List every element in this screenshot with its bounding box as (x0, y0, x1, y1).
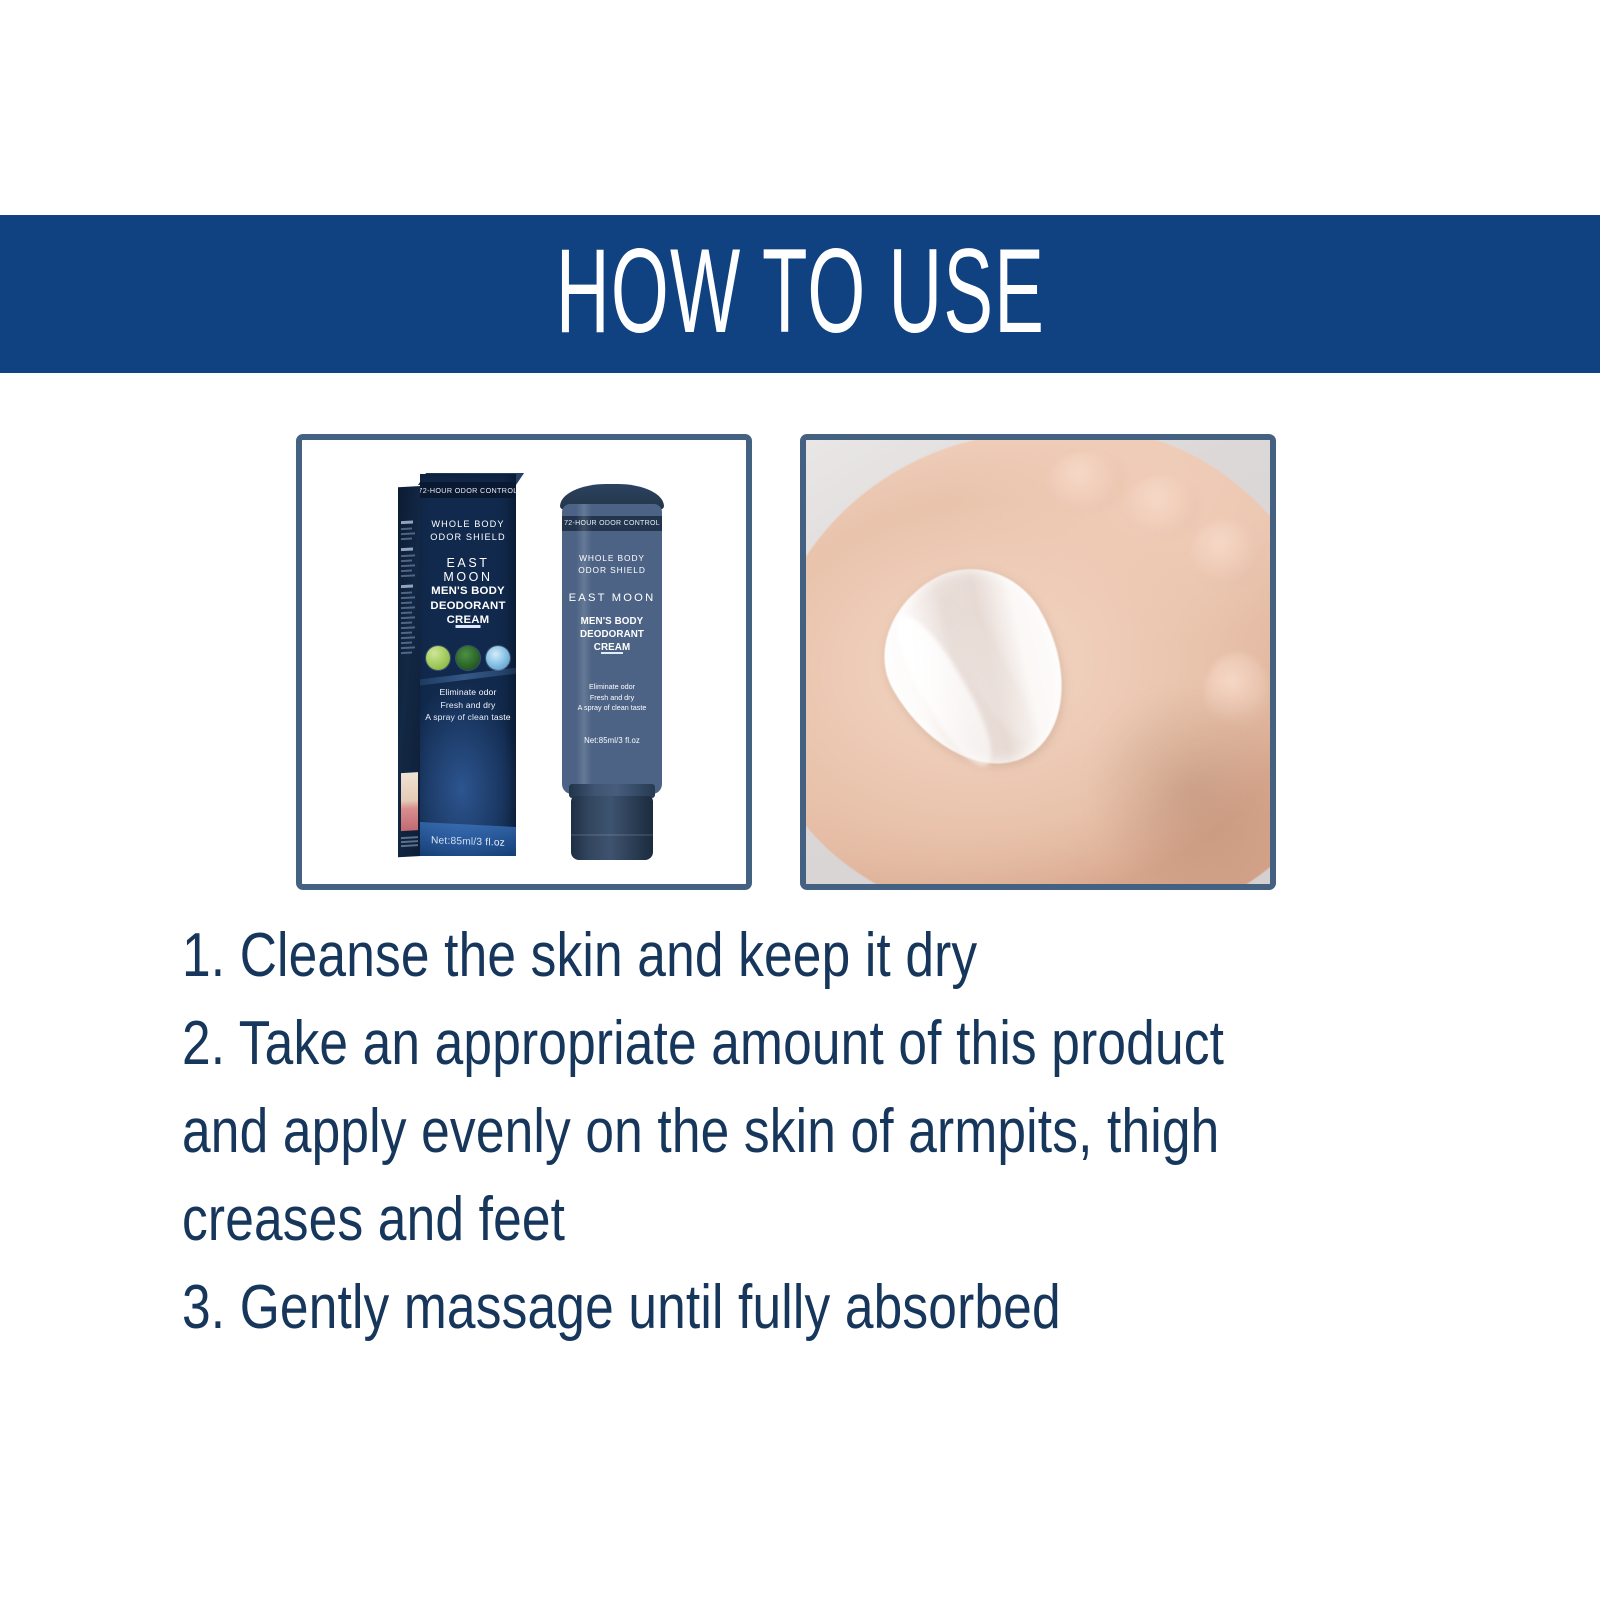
instruction-line-3: and apply evenly on the skin of armpits,… (182, 1088, 1253, 1176)
knuckle-highlight (1126, 476, 1200, 538)
tube-shield-line-2: ODOR SHIELD (562, 564, 662, 576)
product-packshot-frame: 72-HOUR ODOR CONTROL WHOLE BODY ODOR SHI… (296, 434, 752, 890)
carton-net-content: Net:85ml/3 fl.oz (431, 835, 505, 849)
carton-odor-control-banner: 72-HOUR ODOR CONTROL (420, 482, 516, 498)
tube-cap (571, 796, 653, 860)
tube-product-line-1: MEN'S BODY (562, 616, 662, 629)
product-packshot-image: 72-HOUR ODOR CONTROL WHOLE BODY ODOR SHI… (302, 440, 746, 884)
water-wave-icon (486, 646, 510, 670)
carton-product-line-1: MEN'S BODY (420, 584, 516, 599)
tube-odor-control-banner: 72-HOUR ODOR CONTROL (562, 516, 662, 531)
tube-claim-3: A spray of clean taste (562, 703, 662, 714)
carton-product-line-2: DEODORANT CREAM (420, 599, 516, 628)
carton-brand-name: EAST MOON (420, 556, 516, 584)
carton-shield-text: WHOLE BODY ODOR SHIELD (420, 518, 516, 544)
carton-side-panel (398, 486, 421, 857)
carton-product-name: MEN'S BODY DEODORANT CREAM (420, 584, 516, 628)
tube-shield-line-1: WHOLE BODY (562, 552, 662, 564)
carton-net-content-band: Net:85ml/3 fl.oz (420, 822, 516, 856)
carton-side-text-lines (401, 512, 418, 787)
how-to-use-banner: HOW TO USE (0, 215, 1600, 373)
tube-claim-2: Fresh and dry (562, 693, 662, 704)
carton-shield-line-2: ODOR SHIELD (420, 531, 516, 544)
green-leaf-icon (426, 646, 450, 670)
carton-claims: Eliminate odor Fresh and dry A spray of … (420, 686, 516, 724)
tube-odor-control-text: 72-HOUR ODOR CONTROL (564, 520, 660, 527)
carton-front-face: 72-HOUR ODOR CONTROL WHOLE BODY ODOR SHI… (420, 474, 516, 856)
mint-leaf-icon (456, 646, 480, 670)
knuckle-highlight (1047, 453, 1126, 511)
tube-claims: Eliminate odor Fresh and dry A spray of … (562, 682, 662, 714)
tube-product-line-2: DEODORANT CREAM (562, 629, 662, 655)
carton-side-footer-lines (401, 834, 418, 853)
hand-shadow (1084, 689, 1270, 884)
carton-divider (456, 625, 481, 628)
carton-box: 72-HOUR ODOR CONTROL WHOLE BODY ODOR SHI… (398, 474, 516, 856)
tube-product-name: MEN'S BODY DEODORANT CREAM (562, 616, 662, 654)
instruction-line-5: 3. Gently massage until fully absorbed (182, 1264, 1253, 1352)
tube-net-content: Net:85ml/3 fl.oz (562, 736, 662, 745)
carton-claim-2: Fresh and dry (420, 699, 516, 712)
tube-claim-1: Eliminate odor (562, 682, 662, 693)
instruction-line-2: 2. Take an appropriate amount of this pr… (182, 1000, 1253, 1088)
usage-instructions: 1. Cleanse the skin and keep it dry 2. T… (182, 912, 1472, 1352)
carton-claim-3: A spray of clean taste (420, 711, 516, 724)
instruction-line-1: 1. Cleanse the skin and keep it dry (182, 912, 1253, 1000)
tube-divider (601, 652, 623, 654)
cream-on-hand-frame (800, 434, 1276, 890)
tube-body: 72-HOUR ODOR CONTROL WHOLE BODY ODOR SHI… (562, 504, 662, 794)
knuckle-highlight (1191, 520, 1261, 587)
carton-odor-control-text: 72-HOUR ODOR CONTROL (420, 486, 516, 495)
carton-shield-line-1: WHOLE BODY (420, 518, 516, 531)
tube-shield-text: WHOLE BODY ODOR SHIELD (562, 552, 662, 576)
page-title: HOW TO USE (555, 231, 1044, 351)
carton-ingredient-icons (420, 646, 516, 670)
carton-claim-1: Eliminate odor (420, 686, 516, 699)
cream-on-hand-image (806, 440, 1270, 884)
instruction-line-4: creases and feet (182, 1176, 1253, 1264)
carton-side-skin-illustration (401, 772, 418, 831)
product-tube: 72-HOUR ODOR CONTROL WHOLE BODY ODOR SHI… (560, 484, 664, 862)
tube-brand-name: EAST MOON (562, 592, 662, 604)
